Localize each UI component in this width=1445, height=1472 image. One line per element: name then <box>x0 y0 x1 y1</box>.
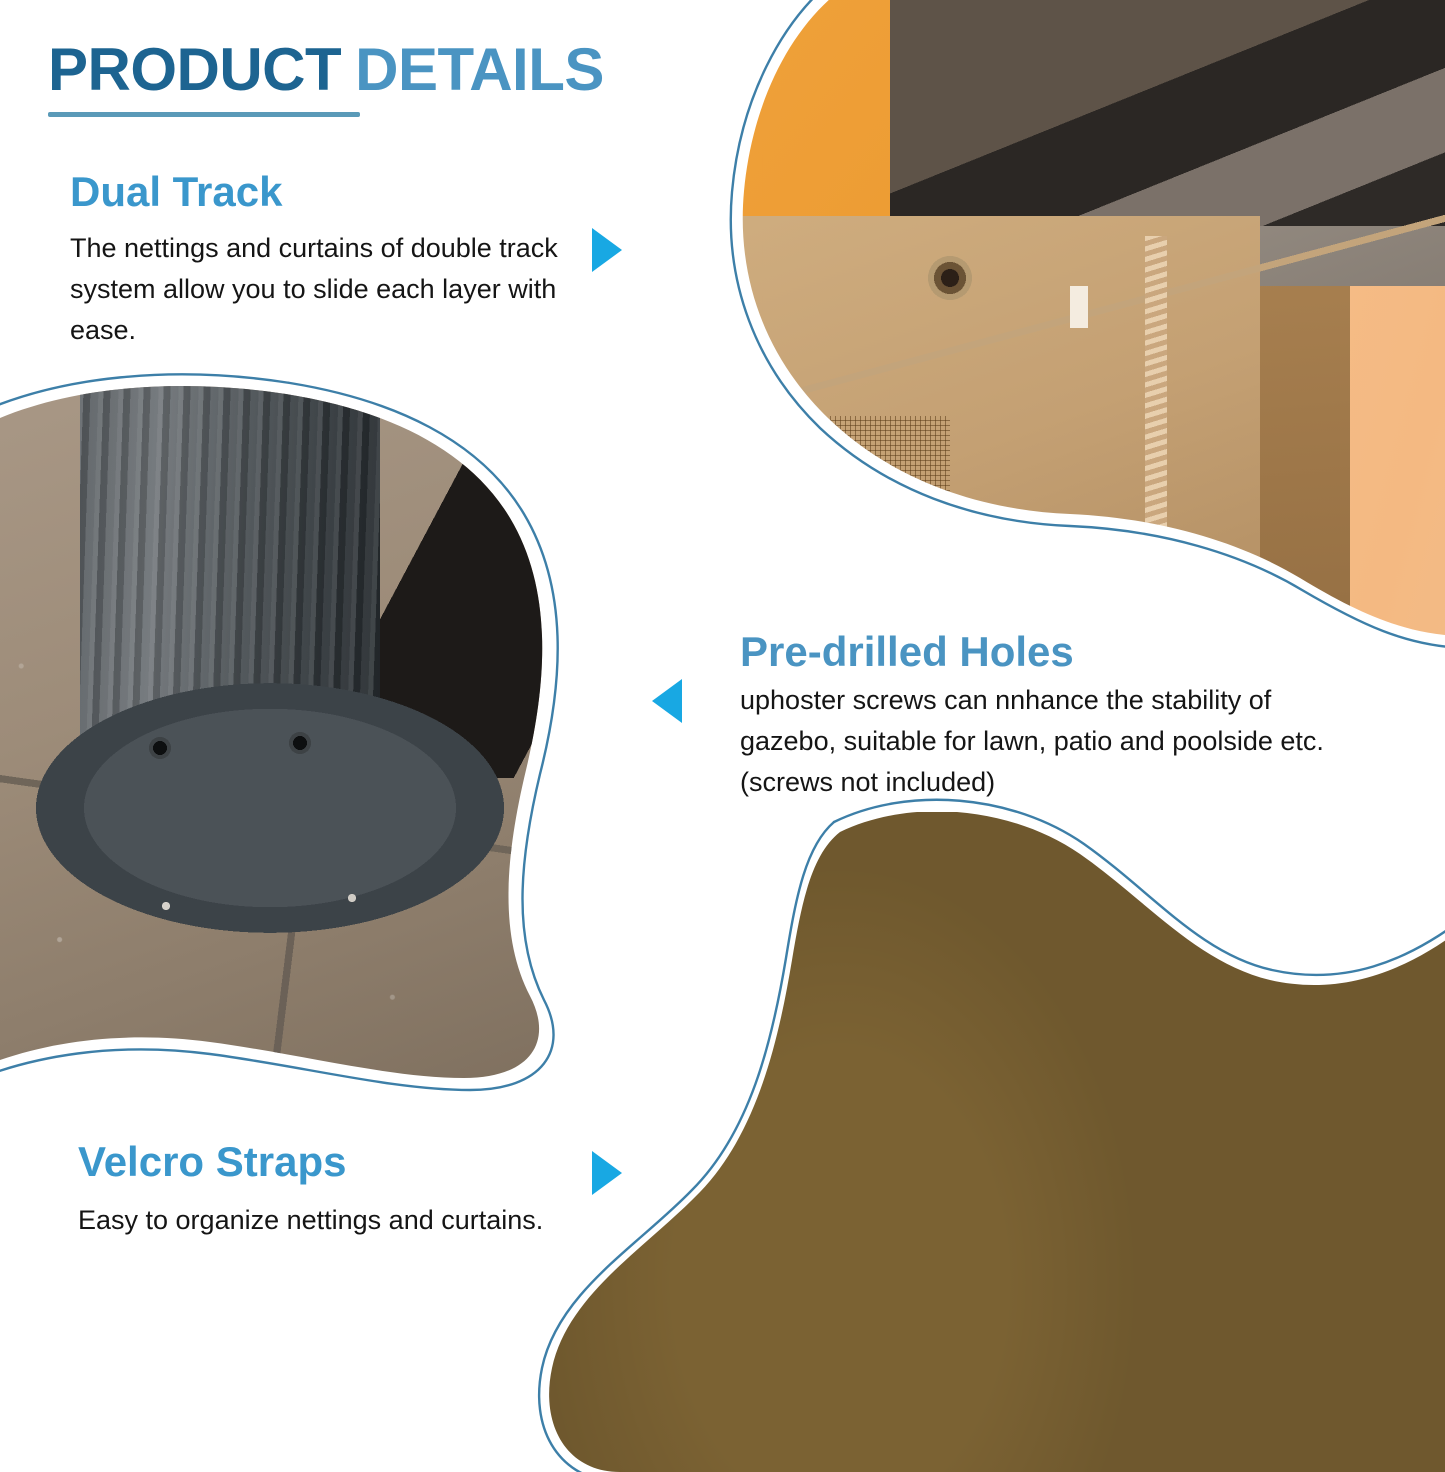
feature-pre-drilled-holes-body: uphoster screws can nnhance the stabilit… <box>740 680 1370 803</box>
feature-pre-drilled-holes-title: Pre-drilled Holes <box>740 630 1380 674</box>
dual-track-photo <box>640 0 1445 666</box>
triangle-right-icon-dual-track <box>592 228 622 272</box>
page-title-secondary: DETAILS <box>355 36 604 103</box>
velcro-strap-photo <box>540 812 1445 1472</box>
page-title: PRODUCTDETAILS <box>48 40 604 100</box>
feature-dual-track-title: Dual Track <box>70 170 590 214</box>
infographic-canvas: PRODUCTDETAILS <box>0 0 1445 1445</box>
dual-track-photo-image <box>640 0 1445 666</box>
triangle-right-icon-velcro-straps <box>592 1151 622 1195</box>
feature-dual-track-body: The nettings and curtains of double trac… <box>70 228 570 351</box>
velcro-strap-photo-image <box>540 812 1445 1472</box>
title-underline-rule <box>48 112 360 117</box>
feature-velcro-straps: Velcro Straps Easy to organize nettings … <box>78 1140 638 1241</box>
feature-velcro-straps-body: Easy to organize nettings and curtains. <box>78 1200 638 1241</box>
feature-velcro-straps-title: Velcro Straps <box>78 1140 638 1184</box>
triangle-left-icon-pre-drilled-holes <box>652 679 682 723</box>
page-title-primary: PRODUCT <box>48 36 341 103</box>
post-base-photo-image <box>0 378 610 1098</box>
post-base-photo <box>0 378 610 1098</box>
feature-pre-drilled-holes: Pre-drilled Holes uphoster screws can nn… <box>740 630 1380 803</box>
feature-dual-track: Dual Track The nettings and curtains of … <box>70 170 590 351</box>
